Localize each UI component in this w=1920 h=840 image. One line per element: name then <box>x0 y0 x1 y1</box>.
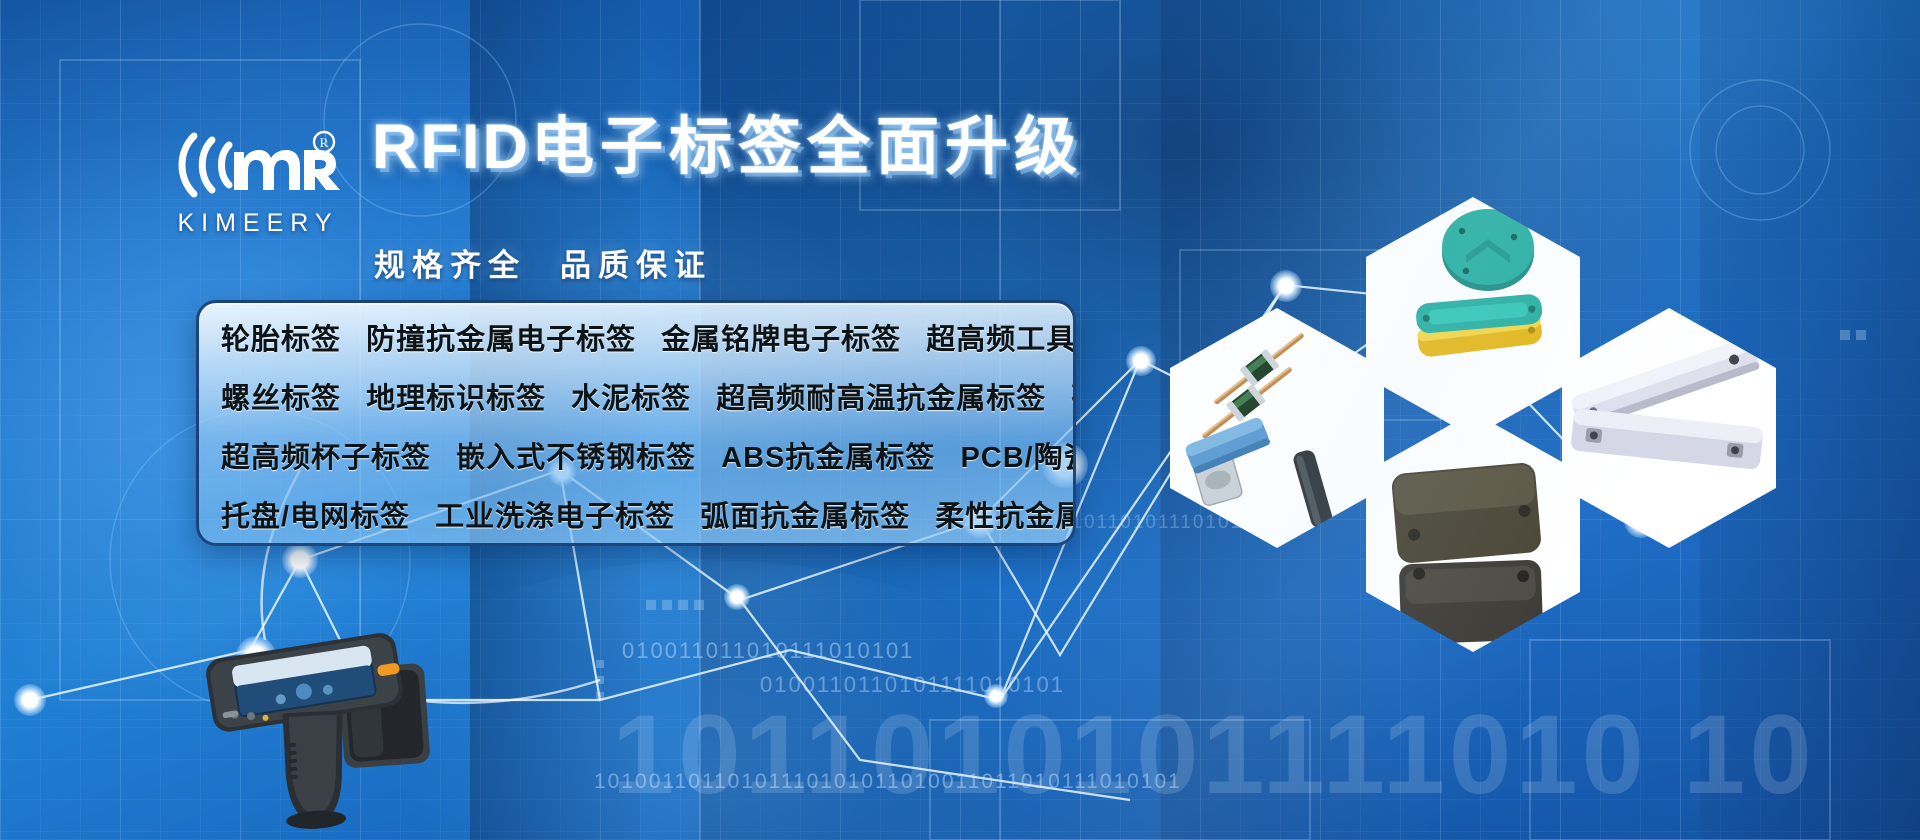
product-item[interactable]: PCB/陶瓷电子标签 <box>960 442 1076 474</box>
page-subtitle: 规格齐全品质保证 <box>374 240 712 285</box>
hexagon-left-products <box>1170 308 1384 548</box>
hexagon-right[interactable] <box>1562 308 1776 548</box>
binary-large-watermark: 1011010101111010 10 <box>612 690 1816 819</box>
product-item[interactable]: 螺丝标签 <box>221 383 341 415</box>
binary-string-1: 010011011010111010101 <box>622 638 914 664</box>
product-item[interactable]: 金属铭牌电子标签 <box>661 324 901 356</box>
product-item[interactable]: 硅胶腕带 <box>1071 383 1076 415</box>
subtitle-right: 品质保证 <box>560 248 712 283</box>
product-row-1: 轮胎标签 防撞抗金属电子标签 金属铭牌电子标签 超高频工具标签 <box>221 311 1051 370</box>
hexagon-right-products <box>1562 308 1776 548</box>
product-item[interactable]: ABS抗金属标签 <box>721 442 935 474</box>
svg-text:R: R <box>320 135 329 150</box>
product-item[interactable]: 超高频工具标签 <box>926 324 1076 356</box>
product-item[interactable]: 防撞抗金属电子标签 <box>366 324 636 356</box>
hexagon-left[interactable] <box>1170 308 1384 548</box>
handheld-reader-device[interactable] <box>190 608 440 840</box>
product-item[interactable]: 水泥标签 <box>571 383 691 415</box>
product-list-panel: 轮胎标签 防撞抗金属电子标签 金属铭牌电子标签 超高频工具标签 螺丝标签 地理标… <box>196 300 1076 546</box>
product-row-4: 托盘/电网标签 工业洗涤电子标签 弧面抗金属标签 柔性抗金属标签 <box>221 488 1051 546</box>
product-item[interactable]: 弧面抗金属标签 <box>700 501 910 533</box>
product-row-2: 螺丝标签 地理标识标签 水泥标签 超高频耐高温抗金属标签 硅胶腕带 <box>221 370 1051 429</box>
hexagon-bottom[interactable] <box>1366 412 1580 652</box>
product-hexagon-cluster <box>1150 190 1790 630</box>
headline-ascii: RFID <box>372 112 531 182</box>
product-item[interactable]: 工业洗涤电子标签 <box>435 501 675 533</box>
product-item[interactable]: 轮胎标签 <box>221 324 341 356</box>
subtitle-left: 规格齐全 <box>374 248 526 283</box>
headline-cjk: 电子标签全面升级 <box>531 112 1083 182</box>
product-item[interactable]: 柔性抗金属标签 <box>935 501 1076 533</box>
rfid-promo-banner: 010011011010111010101 010011011010111101… <box>0 0 1920 840</box>
hexagon-top-products <box>1366 197 1580 437</box>
brand-logo[interactable]: R KIMEERY <box>172 126 344 236</box>
product-item[interactable]: 超高频耐高温抗金属标签 <box>716 383 1046 415</box>
handheld-reader-icon <box>190 608 440 840</box>
page-title: RFID电子标签全面升级 <box>372 116 1083 179</box>
product-item[interactable]: 托盘/电网标签 <box>221 501 410 533</box>
hexagon-bottom-products <box>1366 412 1580 652</box>
product-row-3: 超高频杯子标签 嵌入式不锈钢标签 ABS抗金属标签 PCB/陶瓷电子标签 <box>221 429 1051 488</box>
brand-name: KIMEERY <box>172 209 344 238</box>
product-item[interactable]: 超高频杯子标签 <box>221 442 431 474</box>
product-item[interactable]: 嵌入式不锈钢标签 <box>456 442 696 474</box>
kimeery-wave-mark-icon: R <box>172 126 344 202</box>
product-item[interactable]: 地理标识标签 <box>366 383 546 415</box>
hexagon-top[interactable] <box>1366 197 1580 437</box>
